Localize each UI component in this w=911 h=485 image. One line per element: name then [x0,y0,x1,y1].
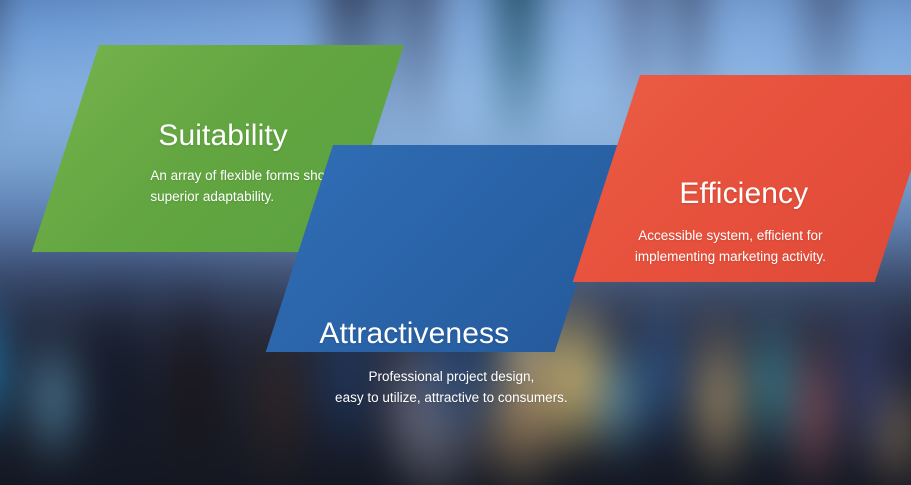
panel-efficiency-title: Efficiency [679,179,808,209]
panel-efficiency-description: Accessible system, efficient for impleme… [580,225,880,267]
panel-suitability-title: Suitability [158,121,288,151]
panel-efficiency-description-line-1: Accessible system, efficient for [580,225,880,246]
panel-efficiency[interactable]: Efficiency Accessible system, efficient … [573,75,911,282]
panel-attractiveness-content: Attractiveness Professional project desi… [299,145,588,352]
panel-efficiency-description-line-2: implementing marketing activity. [580,246,880,267]
banner-stage: Suitability An array of flexible forms s… [0,0,911,485]
panel-attractiveness-description-line-1: Professional project design, [311,366,591,387]
panel-attractiveness-description-line-2: easy to utilize, attractive to consumers… [311,387,591,408]
panel-attractiveness[interactable]: Attractiveness Professional project desi… [266,145,622,352]
panel-attractiveness-title: Attractiveness [319,319,509,349]
panel-attractiveness-description: Professional project design, easy to uti… [311,366,591,408]
panel-efficiency-content: Efficiency Accessible system, efficient … [606,75,908,282]
